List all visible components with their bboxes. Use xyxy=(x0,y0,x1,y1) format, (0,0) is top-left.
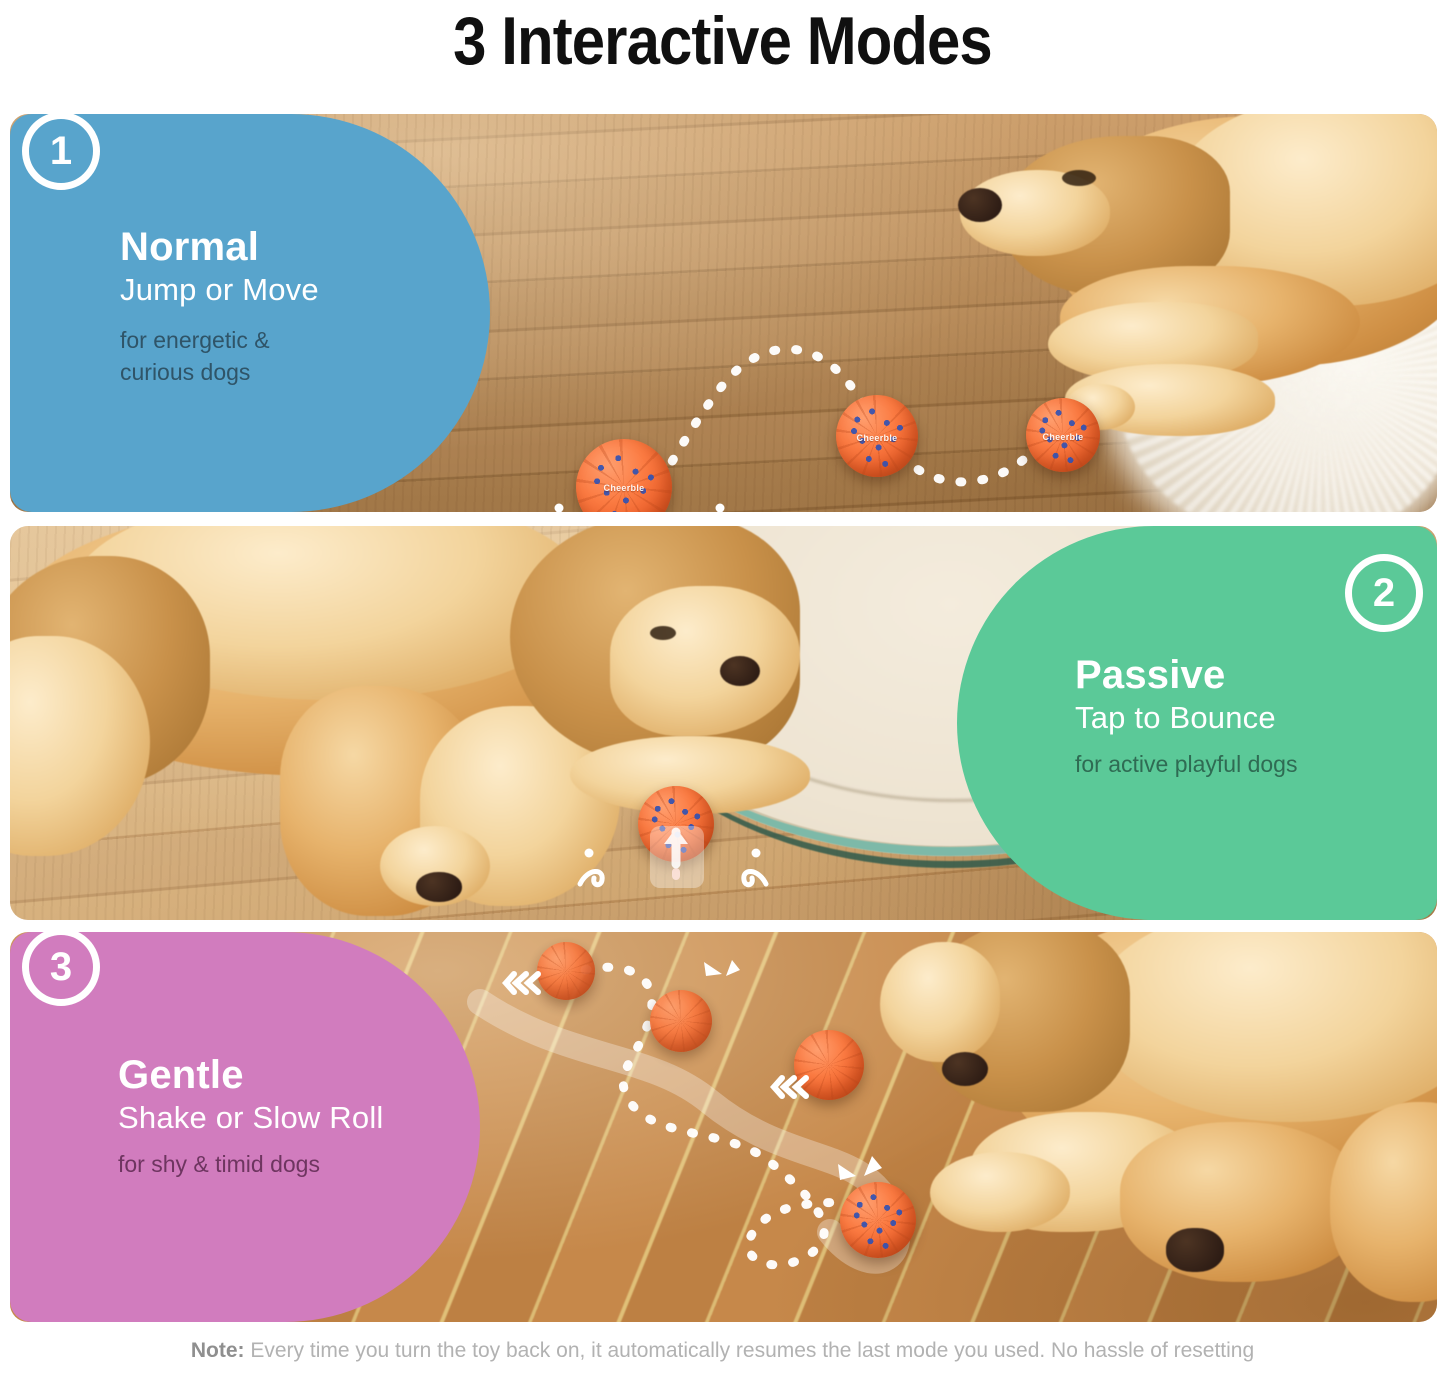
dog-hind-paw xyxy=(380,826,500,916)
mode-subtitle: Tap to Bounce xyxy=(1075,698,1425,738)
mode-panel-1: Cheerble Cheerble Cheerble xyxy=(10,114,1437,512)
mode-name: Normal xyxy=(120,224,460,270)
mode-panel-2: Passive Tap to Bounce for active playful… xyxy=(10,526,1437,920)
impact-spark-icon xyxy=(700,954,750,994)
mode-description-line: curious dogs xyxy=(120,356,460,388)
ball-brand-label: Cheerble xyxy=(576,483,672,493)
mode-description: for active playful dogs xyxy=(1075,748,1425,780)
cheerble-ball xyxy=(638,786,714,862)
cheerble-ball xyxy=(650,990,712,1052)
cheerble-ball: Cheerble xyxy=(836,395,918,477)
ball-brand-label: Cheerble xyxy=(836,433,918,443)
mode-description: for energetic & curious dogs xyxy=(120,324,460,388)
mode-card-2-text: Passive Tap to Bounce for active playful… xyxy=(1075,652,1425,780)
cheerble-ball: Cheerble xyxy=(1026,398,1100,472)
impact-spark-icon xyxy=(832,1146,892,1192)
mode-panel-3: Gentle Shake or Slow Roll for shy & timi… xyxy=(10,932,1437,1322)
mode-subtitle: Jump or Move xyxy=(120,270,460,310)
mode-badge-3-number: 3 xyxy=(50,947,72,987)
mode-badge-2-number: 2 xyxy=(1373,573,1395,613)
mode-card-3-text: Gentle Shake or Slow Roll for shy & timi… xyxy=(118,1052,468,1180)
mode-badge-1: 1 xyxy=(22,114,100,190)
motion-squiggle-icon xyxy=(710,844,770,894)
mode-description-line: for active playful dogs xyxy=(1075,748,1425,780)
footer-note-text: Every time you turn the toy back on, it … xyxy=(250,1339,1254,1362)
page-title: 3 Interactive Modes xyxy=(87,2,1359,80)
mode-subtitle: Shake or Slow Roll xyxy=(118,1098,468,1138)
footer-note-label: Note: xyxy=(191,1339,245,1362)
footer-note: Note: Every time you turn the toy back o… xyxy=(0,1336,1445,1366)
dog-golden-retriever xyxy=(890,932,1437,1302)
motion-chevron-icon xyxy=(502,968,558,998)
motion-squiggle-icon xyxy=(674,499,734,512)
mode-badge-1-number: 1 xyxy=(50,131,72,171)
mode-description-line: for energetic & xyxy=(120,324,460,356)
mode-badge-2: 2 xyxy=(1345,554,1423,632)
mode-name: Passive xyxy=(1075,652,1425,698)
motion-squiggle-icon xyxy=(546,499,606,512)
mode-card-1-text: Normal Jump or Move for energetic & curi… xyxy=(120,224,460,388)
mode-description: for shy & timid dogs xyxy=(118,1148,468,1180)
mode-name: Gentle xyxy=(118,1052,468,1098)
motion-squiggle-icon xyxy=(576,844,636,894)
infographic-page: 3 Interactive Modes xyxy=(0,0,1445,1378)
ball-brand-label: Cheerble xyxy=(1026,432,1100,442)
mode-description-line: for shy & timid dogs xyxy=(118,1148,468,1180)
motion-chevron-icon xyxy=(770,1072,826,1102)
